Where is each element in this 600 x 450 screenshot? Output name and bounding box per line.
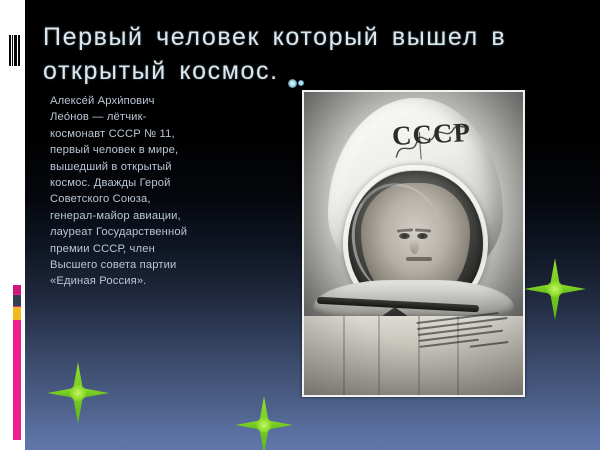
barcode-icon xyxy=(9,35,21,66)
green-sparkle-icon xyxy=(47,362,109,424)
accent-color-bar xyxy=(13,285,21,440)
cosmonaut-photo-image: СССР xyxy=(304,92,523,395)
slide-title: Первый человек который вышел в открытый … xyxy=(43,20,563,88)
accent-segment-slate xyxy=(13,295,21,306)
presentation-slide: Первый человек который вышел в открытый … xyxy=(0,0,600,450)
cosmonaut-photo: СССР xyxy=(302,90,525,397)
accent-segment-magenta-main xyxy=(13,321,21,440)
green-sparkle-icon xyxy=(235,396,293,450)
left-margin-edge xyxy=(23,0,25,450)
blue-dot-decoration xyxy=(288,79,297,88)
photo-vignette xyxy=(304,92,523,395)
accent-segment-magenta-top xyxy=(13,285,21,294)
accent-segment-yellow xyxy=(13,307,21,320)
blue-dot-decoration-small xyxy=(298,80,304,86)
slide-body-text: Алексе́й Архи́пович Лео́нов — лётчик- ко… xyxy=(50,93,218,290)
green-sparkle-icon xyxy=(524,258,586,320)
